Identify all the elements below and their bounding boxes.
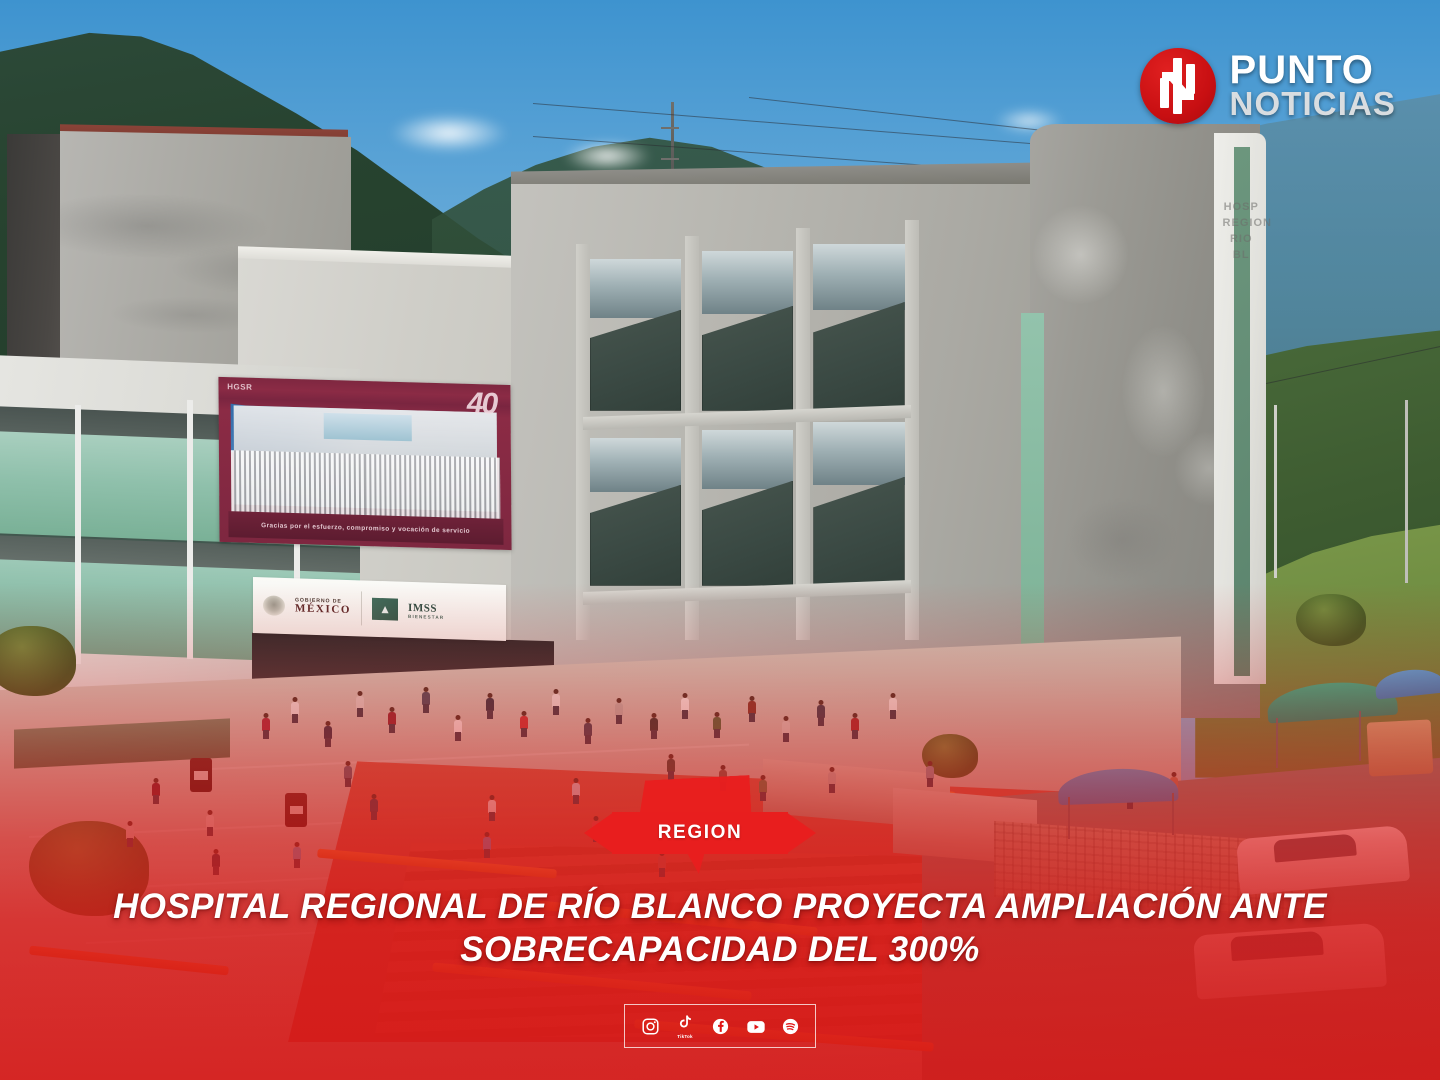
institutional-logo-strip: GOBIERNO DE MÉXICO ▲ IMSS BIENESTAR xyxy=(253,577,506,641)
brand-word-noticias: NOTICIAS xyxy=(1230,89,1396,119)
market-tent xyxy=(1367,720,1434,777)
facebook-icon[interactable] xyxy=(711,1017,730,1036)
headline-line-1: HOSPITAL REGIONAL DE RÍO BLANCO PROYECTA… xyxy=(38,886,1402,929)
antenna-crossbar xyxy=(661,127,679,129)
light-pole xyxy=(1405,400,1408,584)
window-panel xyxy=(702,481,793,586)
tiktok-link[interactable]: TikTok xyxy=(676,1014,695,1039)
window-panel xyxy=(813,302,904,411)
spotify-icon[interactable] xyxy=(781,1017,800,1036)
brand-word-punto: PUNTO xyxy=(1230,52,1396,89)
window-panel xyxy=(590,310,681,411)
logo-divider xyxy=(361,592,362,626)
tiktok-icon xyxy=(676,1014,695,1033)
window-panel xyxy=(590,485,681,586)
brand-wordmark: PUNTO NOTICIAS xyxy=(1230,52,1396,119)
news-card: HOSP REGION RIO BL 40 HGSR Gracias por e… xyxy=(0,0,1440,1080)
category-badge[interactable]: REGION xyxy=(612,812,788,854)
tower-sign-line-2: REGION xyxy=(1223,216,1260,232)
light-pole xyxy=(1274,405,1277,578)
banner-stage-screen xyxy=(324,413,412,442)
imss-emblem-icon: ▲ xyxy=(372,598,398,621)
brand-logo[interactable]: PUNTO NOTICIAS xyxy=(1140,48,1396,124)
imss-bienestar-logo: IMSS BIENESTAR xyxy=(408,601,444,619)
facade-green-stripe xyxy=(1021,313,1044,680)
instagram-icon[interactable] xyxy=(641,1017,660,1036)
banner-top-left-text: HGSR xyxy=(227,382,252,392)
headline-line-2: SOBRECAPACIDAD DEL 300% xyxy=(38,929,1402,972)
gobierno-de-mexico-logo: GOBIERNO DE MÉXICO xyxy=(295,598,351,616)
trash-bin xyxy=(285,793,307,827)
window-panel xyxy=(813,477,904,586)
social-links-bar: TikTok xyxy=(624,1004,816,1048)
tower-sign-line-3: RIO BL xyxy=(1223,232,1260,264)
page-title: HOSPITAL REGIONAL DE RÍO BLANCO PROYECTA… xyxy=(0,886,1440,971)
window-panel xyxy=(702,306,793,411)
gobierno-line-2: MÉXICO xyxy=(295,604,351,617)
youtube-icon[interactable] xyxy=(746,1017,765,1036)
tower-sign-line-1: HOSP xyxy=(1223,200,1260,216)
trash-bin xyxy=(190,758,212,792)
shrub xyxy=(0,626,76,696)
window-grid xyxy=(583,259,921,648)
facade-banner: 40 HGSR Gracias por el esfuerzo, comprom… xyxy=(218,377,511,550)
banner-anniversary-number: 40 xyxy=(467,389,497,420)
punto-noticias-monogram-icon xyxy=(1140,48,1216,124)
tower-sign: HOSP REGION RIO BL xyxy=(1223,200,1260,264)
category-badge-label: REGION xyxy=(658,822,743,844)
imss-line-2: BIENESTAR xyxy=(408,614,444,620)
tiktok-label: TikTok xyxy=(677,1034,693,1039)
imss-line-1: IMSS xyxy=(408,601,444,614)
shrub xyxy=(1296,594,1366,646)
antenna-crossbar xyxy=(661,158,679,160)
mexico-eagle-icon xyxy=(263,595,285,616)
